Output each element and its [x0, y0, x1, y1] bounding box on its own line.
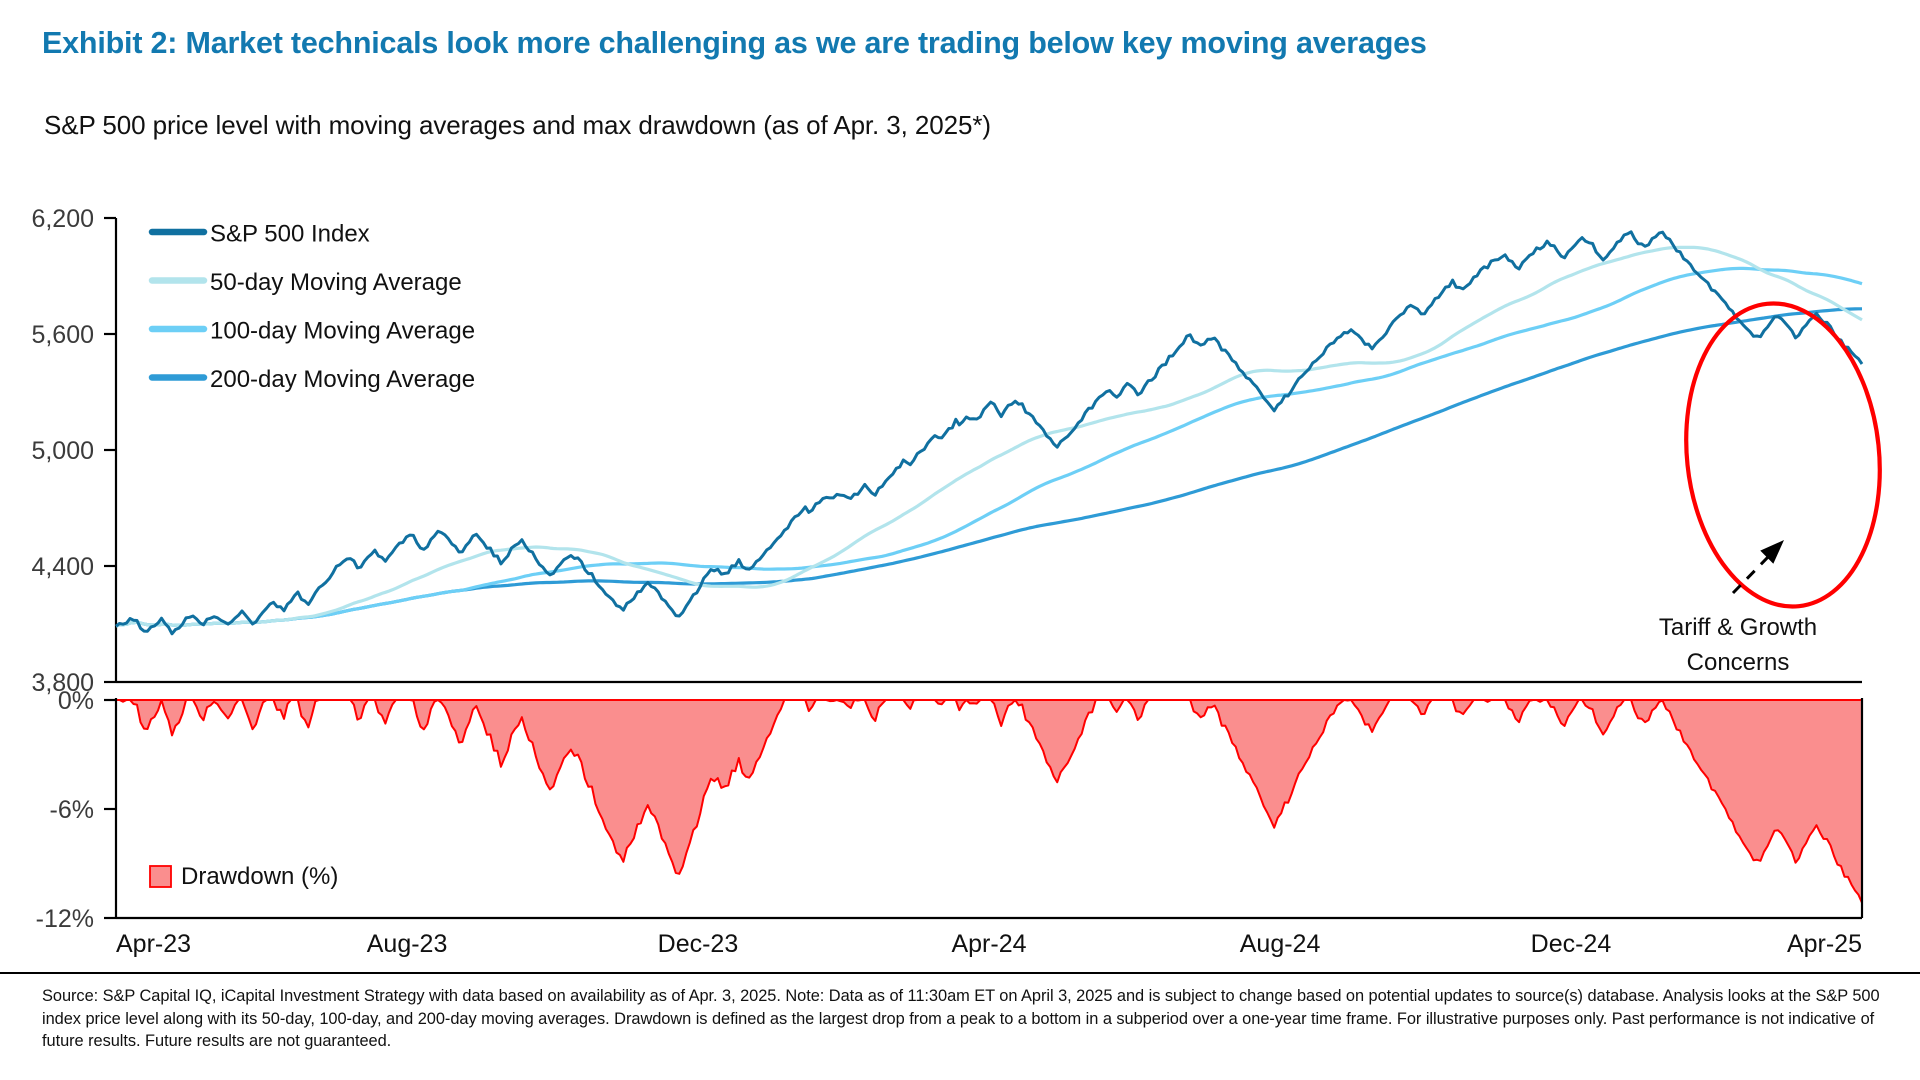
price-y-tick-label: 6,200: [31, 205, 94, 233]
annotation-tariff-growth-concerns: Tariff & GrowthConcerns: [1659, 542, 1817, 676]
legend-swatch-drawdown: [150, 866, 171, 887]
legend-label: 50-day Moving Average: [210, 269, 462, 296]
legend-label: S&P 500 Index: [210, 221, 370, 248]
x-tick-label: Apr-23: [116, 930, 191, 958]
x-tick-label: Dec-23: [658, 930, 739, 958]
price-y-tick-label: 5,000: [31, 437, 94, 465]
source-footnote: Source: S&P Capital IQ, iCapital Investm…: [42, 985, 1882, 1053]
legend-label: 100-day Moving Average: [210, 318, 475, 345]
drawdown-y-tick-label: -6%: [50, 796, 94, 824]
chart-subtitle: S&P 500 price level with moving averages…: [44, 110, 991, 141]
annotation-arrow-line: [1733, 555, 1770, 593]
x-tick-label: Apr-24: [951, 930, 1026, 958]
x-tick-label: Dec-24: [1531, 930, 1612, 958]
drawdown-y-tick-label: 0%: [58, 687, 94, 715]
price-y-tick-label: 5,600: [31, 321, 94, 349]
annotation-line-1: Tariff & Growth: [1659, 614, 1817, 641]
legend-label: 200-day Moving Average: [210, 366, 475, 393]
highlight-ellipse: [1672, 294, 1895, 616]
series-200day-ma: [116, 309, 1862, 626]
price-legend: S&P 500 Index50-day Moving Average100-da…: [152, 221, 475, 394]
x-tick-label: Apr-25: [1787, 930, 1862, 958]
drawdown-y-tick-label: -12%: [36, 905, 94, 933]
sp500-drawdown-chart: 3,8004,4005,0005,6006,2000%-6%-12%Apr-23…: [0, 170, 1920, 960]
drawdown-legend: Drawdown (%): [150, 863, 338, 890]
chart-container: 3,8004,4005,0005,6006,2000%-6%-12%Apr-23…: [0, 170, 1920, 960]
page-title: Exhibit 2: Market technicals look more c…: [42, 26, 1427, 61]
drawdown-area: [116, 700, 1862, 903]
x-tick-label: Aug-24: [1240, 930, 1321, 958]
footnote-divider: [0, 972, 1920, 974]
x-tick-label: Aug-23: [367, 930, 448, 958]
annotation-line-2: Concerns: [1687, 649, 1790, 676]
exhibit-page: Exhibit 2: Market technicals look more c…: [0, 0, 1920, 1080]
series-50day-ma: [116, 247, 1862, 626]
price-y-tick-label: 4,400: [31, 553, 94, 581]
legend-label-drawdown: Drawdown (%): [181, 863, 338, 890]
